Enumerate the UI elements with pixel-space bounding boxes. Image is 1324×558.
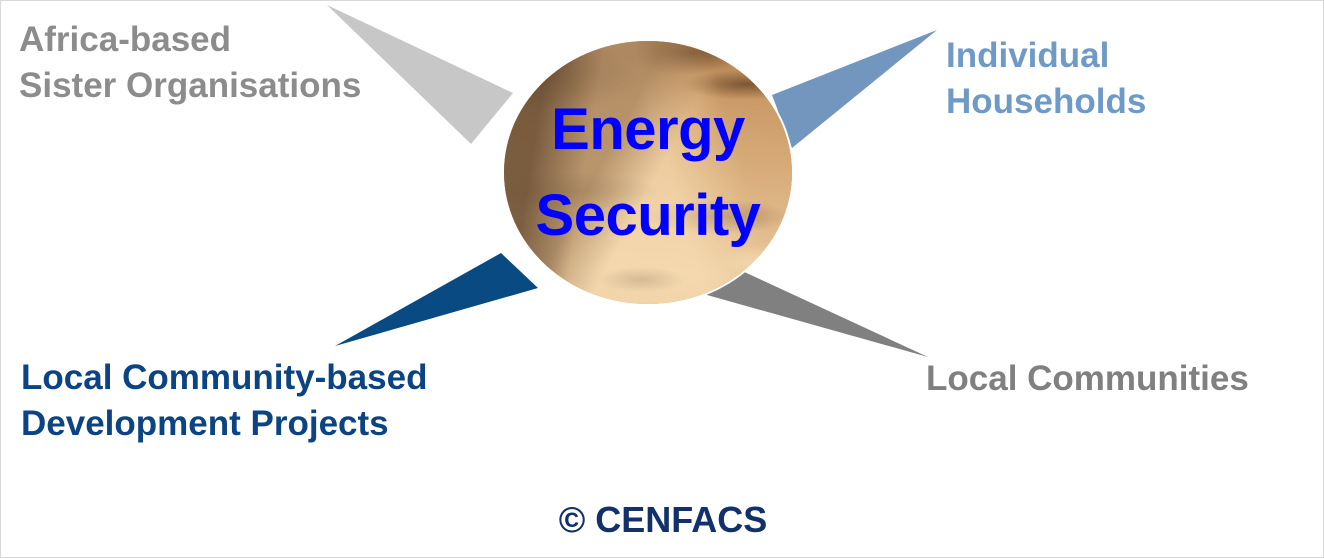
hub-label-line1: Energy <box>551 99 745 160</box>
node-label-africa-based-sister-organisations: Africa-based Sister Organisations <box>19 17 361 109</box>
copyright-credit: © CENFACS <box>1 499 1324 541</box>
hub-label: Energy Security <box>474 41 822 304</box>
node-label-local-community-based-development-projects: Local Community-based Development Projec… <box>21 355 427 447</box>
diagram-canvas: Energy Security Africa-based Sister Orga… <box>0 0 1324 558</box>
node-label-local-communities: Local Communities <box>926 356 1249 402</box>
node-label-individual-households: Individual Households <box>946 33 1146 125</box>
hub-label-line2: Security <box>536 185 761 246</box>
